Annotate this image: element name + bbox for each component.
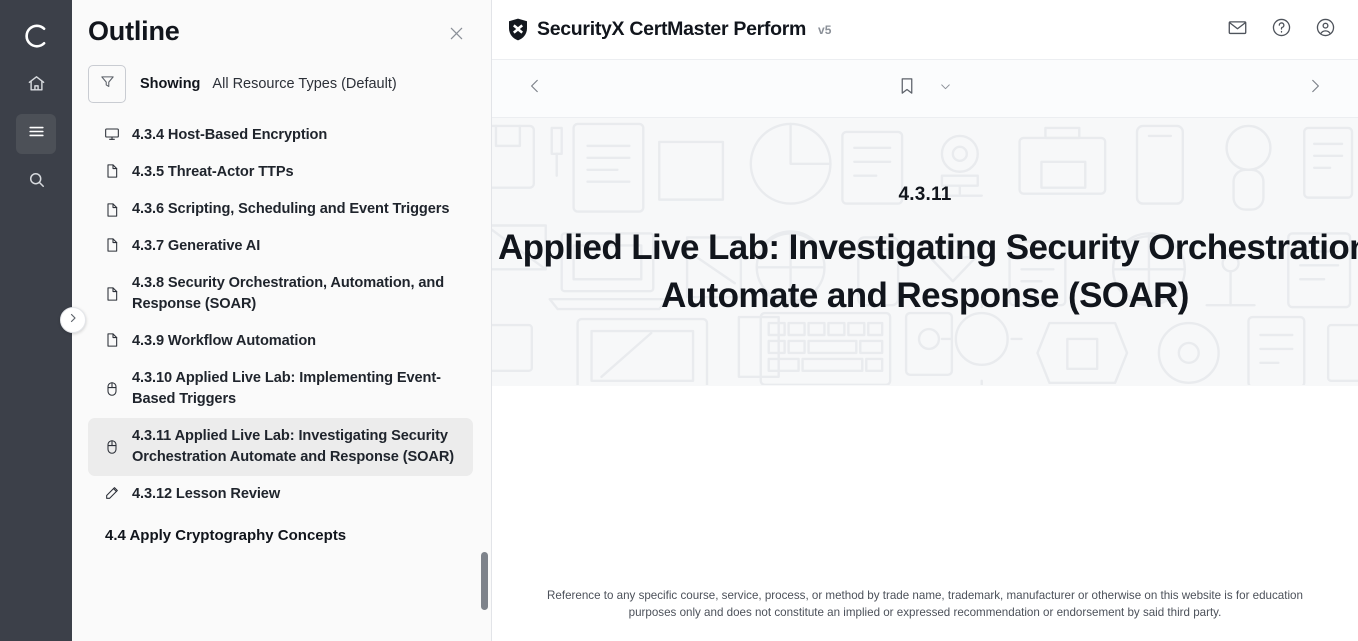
shield-x-icon bbox=[508, 18, 528, 41]
page-title: Outline bbox=[88, 16, 180, 47]
lesson-title-line1: Applied Live Lab: Investigating Security… bbox=[498, 228, 1358, 267]
header-actions bbox=[1224, 17, 1338, 43]
document-icon bbox=[104, 237, 120, 253]
account-circle-icon bbox=[1315, 17, 1336, 43]
list-item[interactable]: 4.3.10 Applied Live Lab: Implementing Ev… bbox=[88, 360, 473, 418]
outline-list: 4.3.4 Host-Based Encryption 4.3.5 Threat… bbox=[72, 117, 491, 641]
bookmark-dropdown-button[interactable] bbox=[935, 79, 955, 99]
previous-page-button[interactable] bbox=[520, 74, 550, 104]
outline-scrollbar-thumb[interactable] bbox=[481, 552, 488, 610]
lesson-body: Reference to any specific course, servic… bbox=[492, 386, 1358, 641]
list-item-label: 4.3.9 Workflow Automation bbox=[132, 331, 316, 352]
app-header: SecurityX CertMaster Perform v5 bbox=[492, 0, 1358, 60]
filter-funnel-icon bbox=[99, 73, 116, 95]
lesson-title-line2: Automate and Response (SOAR) bbox=[661, 276, 1189, 315]
disclaimer-text: Reference to any specific course, servic… bbox=[492, 587, 1358, 621]
chevron-left-icon bbox=[526, 77, 544, 100]
outline-group-heading[interactable]: 4.4 Apply Cryptography Concepts bbox=[88, 513, 473, 550]
mail-button[interactable] bbox=[1224, 17, 1250, 43]
rail-item-home[interactable] bbox=[16, 66, 56, 106]
filter-value[interactable]: All Resource Types (Default) bbox=[212, 76, 396, 92]
chevron-right-icon bbox=[1306, 77, 1324, 100]
document-icon bbox=[104, 163, 120, 179]
lesson-title: Applied Live Lab: Investigating Security… bbox=[492, 224, 1358, 320]
lesson-navbar bbox=[492, 60, 1358, 118]
chevron-right-icon bbox=[67, 311, 79, 329]
main-content: SecurityX CertMaster Perform v5 bbox=[492, 0, 1358, 641]
mouse-icon bbox=[104, 439, 120, 455]
navbar-center-actions bbox=[492, 60, 1358, 117]
close-icon bbox=[447, 24, 466, 48]
mail-icon bbox=[1227, 17, 1248, 43]
bookmark-button[interactable] bbox=[895, 77, 919, 101]
document-icon bbox=[104, 202, 120, 218]
help-circle-icon bbox=[1271, 17, 1292, 43]
outline-header: Outline bbox=[72, 0, 491, 53]
filter-showing-label: Showing bbox=[140, 76, 200, 92]
list-item-label: 4.3.5 Threat-Actor TTPs bbox=[132, 162, 294, 183]
document-icon bbox=[104, 286, 120, 302]
close-outline-button[interactable] bbox=[443, 23, 469, 49]
list-item-label: 4.3.4 Host-Based Encryption bbox=[132, 125, 327, 146]
list-item-label: 4.3.6 Scripting, Scheduling and Event Tr… bbox=[132, 199, 449, 220]
hamburger-menu-icon bbox=[27, 122, 46, 146]
outline-panel: Outline Showing All Resource Types (Defa… bbox=[72, 0, 492, 641]
hero-text: 4.3.11 Applied Live Lab: Investigating S… bbox=[492, 184, 1358, 320]
lesson-number: 4.3.11 bbox=[492, 184, 1358, 206]
list-item-label: 4.3.11 Applied Live Lab: Investigating S… bbox=[132, 426, 463, 468]
next-page-button[interactable] bbox=[1300, 74, 1330, 104]
list-item[interactable]: 4.3.6 Scripting, Scheduling and Event Tr… bbox=[88, 191, 473, 228]
list-item[interactable]: 4.3.8 Security Orchestration, Automation… bbox=[88, 265, 473, 323]
document-icon bbox=[104, 332, 120, 348]
bookmark-icon bbox=[897, 76, 917, 101]
version-badge: v5 bbox=[818, 23, 831, 37]
list-item[interactable]: 4.3.4 Host-Based Encryption bbox=[88, 117, 473, 154]
app-root: Outline Showing All Resource Types (Defa… bbox=[0, 0, 1358, 641]
list-item[interactable]: 4.3.12 Lesson Review bbox=[88, 476, 473, 513]
brand-name: SecurityX CertMaster Perform bbox=[537, 18, 806, 41]
list-item-label: 4.3.7 Generative AI bbox=[132, 236, 260, 257]
list-item[interactable]: 4.3.9 Workflow Automation bbox=[88, 323, 473, 360]
filter-button[interactable] bbox=[88, 65, 126, 103]
pencil-icon bbox=[104, 485, 120, 501]
chevron-down-icon bbox=[939, 80, 952, 98]
list-item-label: 4.3.10 Applied Live Lab: Implementing Ev… bbox=[132, 368, 463, 410]
rail-item-search[interactable] bbox=[16, 162, 56, 202]
expand-panel-handle[interactable] bbox=[60, 307, 86, 333]
home-icon bbox=[27, 74, 46, 98]
outline-scrollbar[interactable] bbox=[481, 0, 488, 641]
comptia-c-logo-icon[interactable] bbox=[14, 14, 58, 58]
mouse-icon bbox=[104, 381, 120, 397]
list-item[interactable]: 4.3.7 Generative AI bbox=[88, 228, 473, 265]
brand: SecurityX CertMaster Perform v5 bbox=[508, 18, 831, 41]
rail-item-outline[interactable] bbox=[16, 114, 56, 154]
search-icon bbox=[27, 170, 46, 194]
monitor-icon bbox=[104, 126, 120, 142]
list-item-label: 4.3.12 Lesson Review bbox=[132, 484, 280, 505]
account-button[interactable] bbox=[1312, 17, 1338, 43]
list-item[interactable]: 4.3.5 Threat-Actor TTPs bbox=[88, 154, 473, 191]
help-button[interactable] bbox=[1268, 17, 1294, 43]
list-item-label: 4.3.8 Security Orchestration, Automation… bbox=[132, 273, 463, 315]
list-item-selected[interactable]: 4.3.11 Applied Live Lab: Investigating S… bbox=[88, 418, 473, 476]
lesson-hero: 4.3.11 Applied Live Lab: Investigating S… bbox=[492, 118, 1358, 386]
filter-row: Showing All Resource Types (Default) bbox=[72, 53, 491, 117]
